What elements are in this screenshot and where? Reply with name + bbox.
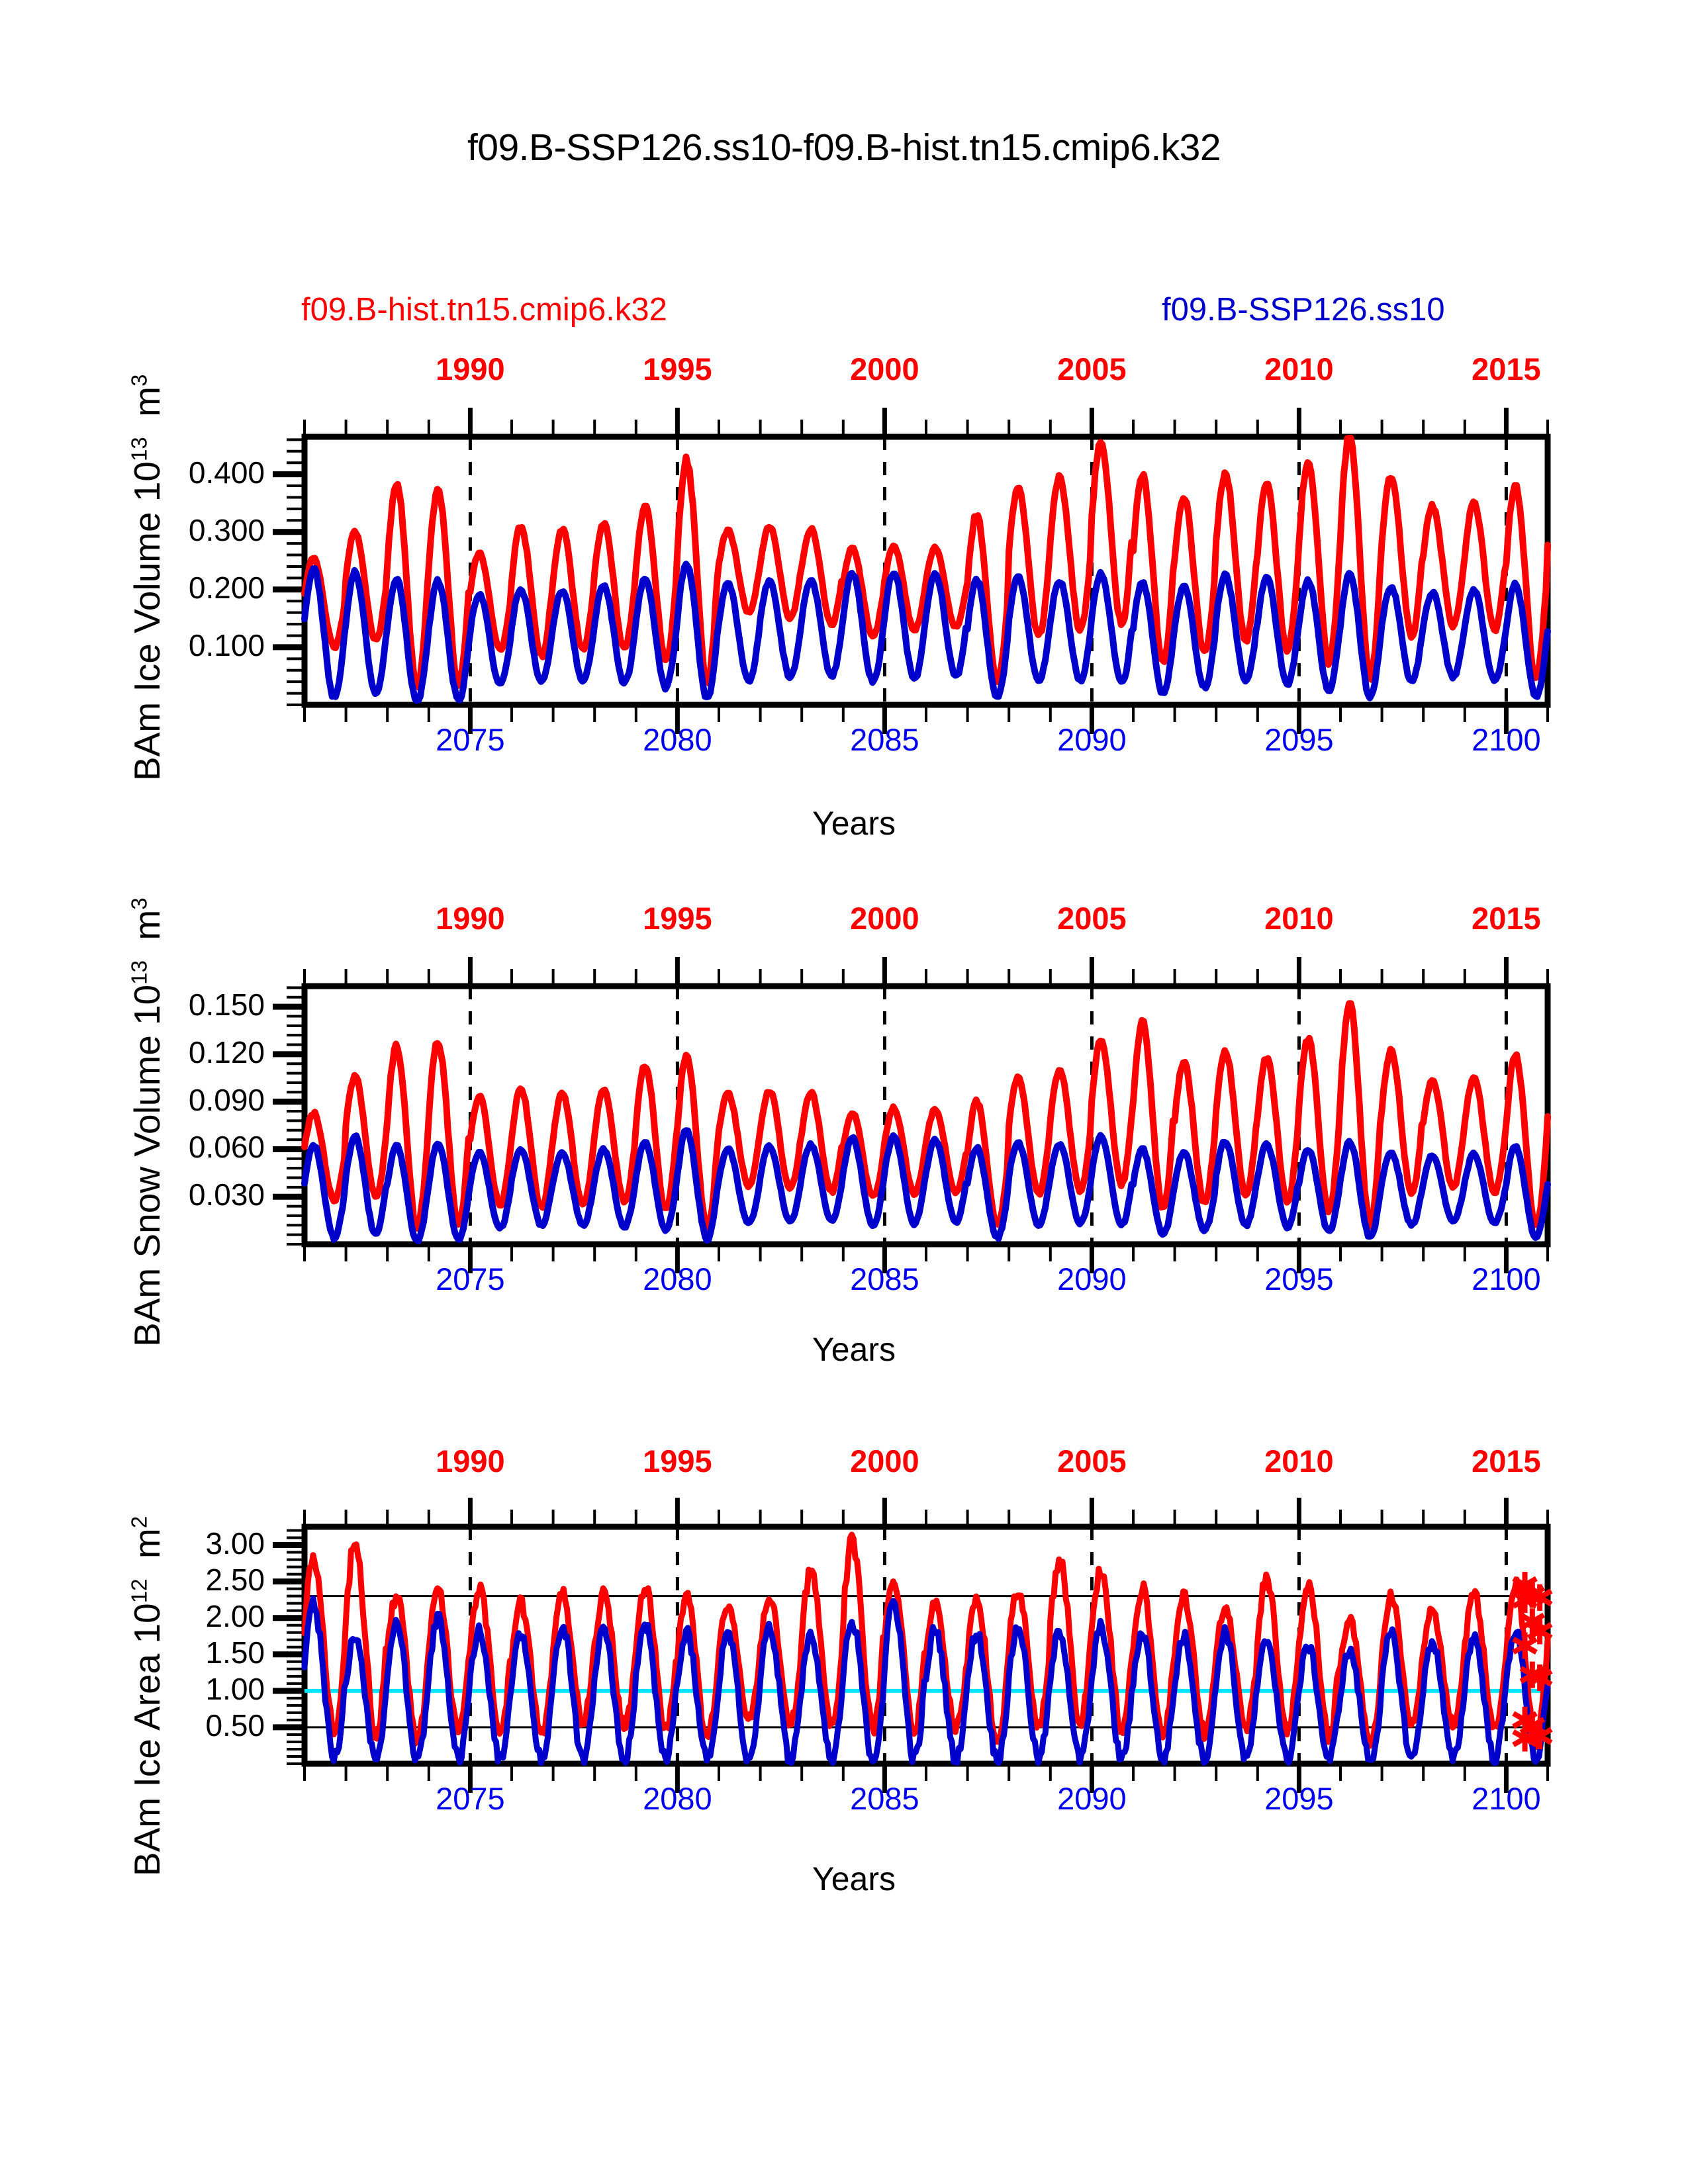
y-tick-label: 0.060 — [26, 1129, 265, 1165]
y-tick-label: 0.50 — [26, 1707, 265, 1743]
x-tick-label-bottom: 2075 — [391, 1261, 549, 1297]
x-tick-label-bottom: 2090 — [1012, 1261, 1171, 1297]
x-tick-label-bottom: 2095 — [1219, 1261, 1378, 1297]
panel2-svg — [0, 860, 1688, 1390]
panel1-x-axis-label: Years — [812, 804, 896, 842]
x-tick-label-bottom: 2075 — [391, 1780, 549, 1817]
x-tick-label-top: 2000 — [805, 351, 964, 387]
x-tick-label-top: 2015 — [1427, 900, 1585, 936]
x-tick-label-bottom: 2085 — [805, 721, 964, 758]
x-tick-label-bottom: 2085 — [805, 1261, 964, 1297]
y-tick-label: 0.300 — [26, 512, 265, 548]
x-tick-label-top: 2010 — [1219, 351, 1378, 387]
x-tick-label-top: 2010 — [1219, 900, 1378, 936]
panel3-x-axis-label: Years — [812, 1860, 896, 1898]
y-tick-label: 0.150 — [26, 987, 265, 1023]
y-tick-label: 0.200 — [26, 570, 265, 606]
x-tick-label-top: 1990 — [391, 351, 549, 387]
x-tick-label-top: 2010 — [1219, 1443, 1378, 1479]
x-tick-label-top: 2005 — [1012, 1443, 1171, 1479]
x-tick-label-top: 2000 — [805, 900, 964, 936]
x-tick-label-bottom: 2080 — [598, 1261, 757, 1297]
x-tick-label-top: 1990 — [391, 900, 549, 936]
x-tick-label-top: 2015 — [1427, 351, 1585, 387]
x-tick-label-bottom: 2090 — [1012, 1780, 1171, 1817]
x-tick-label-bottom: 2100 — [1427, 1261, 1585, 1297]
y-tick-label: 0.100 — [26, 627, 265, 663]
y-tick-label: 1.50 — [26, 1635, 265, 1670]
x-tick-label-bottom: 2095 — [1219, 1780, 1378, 1817]
x-tick-label-top: 2000 — [805, 1443, 964, 1479]
panel2-x-axis-label: Years — [812, 1330, 896, 1369]
y-tick-label: 0.120 — [26, 1034, 265, 1070]
x-tick-label-top: 1990 — [391, 1443, 549, 1479]
x-tick-label-bottom: 2085 — [805, 1780, 964, 1817]
x-tick-label-top: 2005 — [1012, 351, 1171, 387]
chart-page: f09.B-SSP126.ss10-f09.B-hist.tn15.cmip6.… — [0, 0, 1688, 2184]
y-tick-label: 3.00 — [26, 1525, 265, 1561]
y-tick-label: 2.50 — [26, 1562, 265, 1598]
x-tick-label-top: 2005 — [1012, 900, 1171, 936]
x-tick-label-bottom: 2080 — [598, 721, 757, 758]
x-tick-label-bottom: 2075 — [391, 721, 549, 758]
x-tick-label-bottom: 2100 — [1427, 1780, 1585, 1817]
y-tick-label: 1.00 — [26, 1671, 265, 1707]
x-tick-label-top: 1995 — [598, 1443, 757, 1479]
x-tick-label-bottom: 2090 — [1012, 721, 1171, 758]
x-tick-label-top: 1995 — [598, 900, 757, 936]
x-tick-label-top: 2015 — [1427, 1443, 1585, 1479]
panel2-plot — [0, 860, 1688, 1390]
y-tick-label: 0.030 — [26, 1177, 265, 1212]
y-tick-label: 0.400 — [26, 455, 265, 490]
x-tick-label-bottom: 2100 — [1427, 721, 1585, 758]
y-tick-label: 0.090 — [26, 1082, 265, 1118]
x-tick-label-bottom: 2095 — [1219, 721, 1378, 758]
y-tick-label: 2.00 — [26, 1598, 265, 1634]
x-tick-label-bottom: 2080 — [598, 1780, 757, 1817]
x-tick-label-top: 1995 — [598, 351, 757, 387]
